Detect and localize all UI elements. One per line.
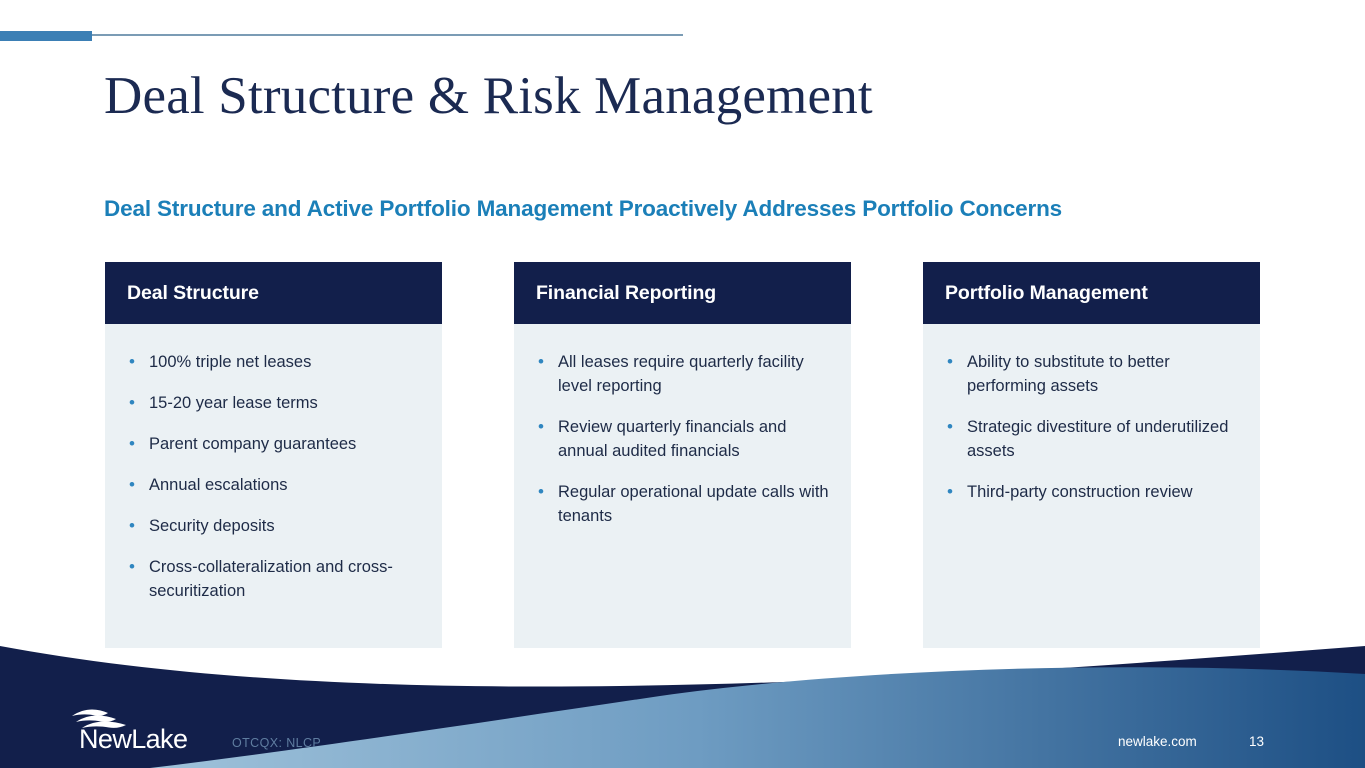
list-item: • Review quarterly financials and annual… xyxy=(536,415,831,463)
list-item: • Parent company guarantees xyxy=(127,432,422,456)
bullet-list: • All leases require quarterly facility … xyxy=(536,350,831,528)
bullet-text: 15-20 year lease terms xyxy=(149,391,422,415)
list-item: • Regular operational update calls with … xyxy=(536,480,831,528)
list-item: • Third-party construction review xyxy=(945,480,1240,504)
list-item: • 15-20 year lease terms xyxy=(127,391,422,415)
bullet-dot-icon: • xyxy=(536,480,558,504)
card-body: • All leases require quarterly facility … xyxy=(514,324,851,648)
list-item: • Cross-collateralization and cross-secu… xyxy=(127,555,422,603)
bullet-text: Regular operational update calls with te… xyxy=(558,480,831,528)
card-financial-reporting: Financial Reporting • All leases require… xyxy=(514,262,851,648)
list-item: • 100% triple net leases xyxy=(127,350,422,374)
bullet-text: All leases require quarterly facility le… xyxy=(558,350,831,398)
list-item: • Annual escalations xyxy=(127,473,422,497)
card-title: Financial Reporting xyxy=(536,282,716,305)
bullet-text: Third-party construction review xyxy=(967,480,1240,504)
bullet-text: Annual escalations xyxy=(149,473,422,497)
bullet-text: Review quarterly financials and annual a… xyxy=(558,415,831,463)
bullet-dot-icon: • xyxy=(127,473,149,497)
bullet-list: • 100% triple net leases • 15-20 year le… xyxy=(127,350,422,603)
bullet-text: Security deposits xyxy=(149,514,422,538)
bullet-dot-icon: • xyxy=(127,514,149,538)
logo-wordmark: NewLake xyxy=(79,724,187,755)
website-url: newlake.com xyxy=(1118,734,1197,749)
bullet-text: Cross-collateralization and cross-securi… xyxy=(149,555,422,603)
list-item: • Strategic divestiture of underutilized… xyxy=(945,415,1240,463)
bullet-dot-icon: • xyxy=(945,415,967,439)
card-body: • Ability to substitute to better perfor… xyxy=(923,324,1260,648)
card-title: Portfolio Management xyxy=(945,282,1148,305)
bullet-text: Parent company guarantees xyxy=(149,432,422,456)
card-header: Deal Structure xyxy=(105,262,442,324)
page-subtitle: Deal Structure and Active Portfolio Mana… xyxy=(104,196,1062,222)
bullet-dot-icon: • xyxy=(536,415,558,439)
page-title: Deal Structure & Risk Management xyxy=(104,66,873,126)
top-accent-bar xyxy=(0,31,92,41)
bullet-dot-icon: • xyxy=(127,350,149,374)
bullet-list: • Ability to substitute to better perfor… xyxy=(945,350,1240,504)
bullet-dot-icon: • xyxy=(127,391,149,415)
ticker-symbol: OTCQX: NLCP xyxy=(232,736,321,750)
bullet-dot-icon: • xyxy=(945,480,967,504)
card-header: Financial Reporting xyxy=(514,262,851,324)
slide-canvas: Deal Structure & Risk Management Deal St… xyxy=(0,0,1365,768)
bullet-dot-icon: • xyxy=(127,555,149,579)
bullet-dot-icon: • xyxy=(127,432,149,456)
bullet-dot-icon: • xyxy=(536,350,558,374)
card-portfolio-management: Portfolio Management • Ability to substi… xyxy=(923,262,1260,648)
card-body: • 100% triple net leases • 15-20 year le… xyxy=(105,324,442,648)
card-group: Deal Structure • 100% triple net leases … xyxy=(105,262,1260,648)
bullet-dot-icon: • xyxy=(945,350,967,374)
list-item: • All leases require quarterly facility … xyxy=(536,350,831,398)
card-deal-structure: Deal Structure • 100% triple net leases … xyxy=(105,262,442,648)
card-header: Portfolio Management xyxy=(923,262,1260,324)
bullet-text: Strategic divestiture of underutilized a… xyxy=(967,415,1240,463)
top-rule-line xyxy=(0,34,683,36)
card-title: Deal Structure xyxy=(127,282,259,305)
brand-logo: NewLake OTCQX: NLCP xyxy=(70,706,370,754)
list-item: • Ability to substitute to better perfor… xyxy=(945,350,1240,398)
list-item: • Security deposits xyxy=(127,514,422,538)
bullet-text: Ability to substitute to better performi… xyxy=(967,350,1240,398)
bullet-text: 100% triple net leases xyxy=(149,350,422,374)
page-number: 13 xyxy=(1249,734,1264,749)
